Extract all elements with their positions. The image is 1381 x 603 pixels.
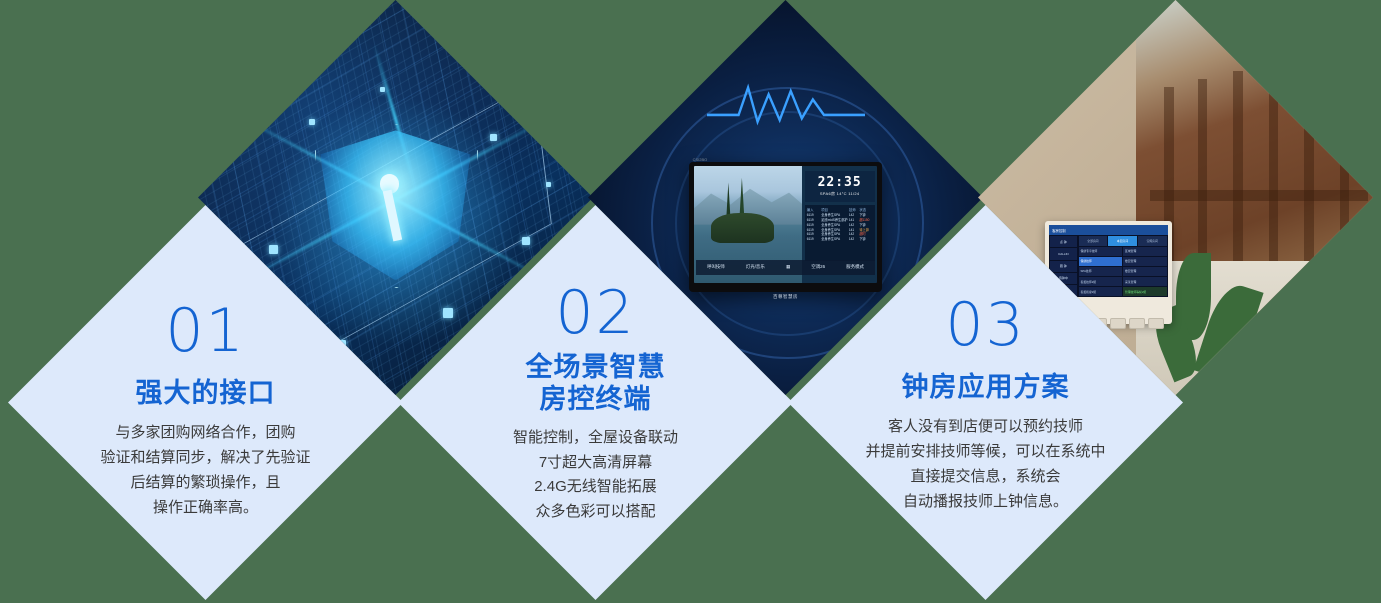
card-desc-line: 众多色彩可以搭配 [513,500,678,525]
card-title-line: 房控终端 [526,383,666,415]
panel-room-grid[interactable]: 保健专享技师 保健技师 SPA技师 香薰技师2组 香薰按摩2组 区域管理 楼层管… [1079,247,1167,296]
panel-cell[interactable]: 香薰技师2组 [1079,277,1123,286]
card-title-line: 全场景智慧 [526,351,666,383]
panel-cell[interactable]: 采某管理 [1123,277,1167,286]
card-desc-line: 7寸超大高清屏幕 [513,451,678,476]
wallpaper-island [711,213,774,244]
card-desc-line: 自动播报技师上钟信息。 [865,490,1105,515]
panel-button[interactable] [1129,318,1145,329]
table-cell: 全身养生SPA [821,237,849,242]
clock-meta: SPA6房 14°C 11/24 [820,191,860,197]
card-desc-line: 客人没有到店便可以预约技师 [865,415,1105,440]
screen-button-call-tech[interactable]: 呼叫技师 [707,264,725,270]
screen-button-aircon[interactable]: 空调26 [811,264,825,270]
card-title-02: 全场景智慧 房控终端 [526,351,666,416]
panel-screen[interactable]: 客房控制 点 钟 CALLIN 圈 钟 待钟中 直 钟 全部房间 本层房间 [1049,225,1167,297]
panel-cell[interactable]: 区域管理 [1123,247,1167,256]
table-header-cell: 项目 [821,207,849,212]
apps-grid-icon[interactable]: ▦ [786,264,790,270]
tablet-screen[interactable]: 22:35 SPA6房 14°C 11/24 编入 项目 技师 状态 6119 … [694,166,878,283]
screen-button-light-music[interactable]: 灯光/音乐 [746,264,765,270]
tablet-device: CSI2BO 22:35 SPA6房 14°C 11/24 编入 项目 [689,162,883,292]
panel-cell[interactable]: 香薰按摩2组 [1079,287,1123,296]
card-title-01: 强大的接口 [136,377,276,409]
screen-service-table: 编入 项目 技师 状态 6119 全身养生SPA 142 下钟 6119 足底m… [805,205,875,261]
side-menu-item[interactable]: 点 钟 [1050,236,1076,247]
table-row: 6119 全身养生SPA 142 下钟 [807,237,873,242]
card-title-03: 钟房应用方案 [902,371,1070,403]
screen-button-service-mode[interactable]: 服务模式 [846,264,864,270]
side-menu-item[interactable]: 圈 钟 [1050,261,1076,272]
card-desc-01: 与多家团购网络合作，团购 验证和结算同步，解决了先验证 后结算的繁琐操作，且 操… [100,421,310,520]
side-menu-item[interactable]: CALLIN [1050,248,1076,259]
card-desc-line: 验证和结算同步，解决了先验证 [100,446,310,471]
card-desc-line: 智能控制，全屋设备联动 [513,426,678,451]
tablet-logo: 百尊智慧房 [689,292,883,302]
panel-button[interactable] [1110,318,1126,329]
card-desc-line: 后结算的繁琐操作，且 [100,471,310,496]
infographic-stage: 01 强大的接口 与多家团购网络合作，团购 验证和结算同步，解决了先验证 后结算… [0,0,1381,603]
card-desc-line: 并提前安排技师等候，可以在系统中 [865,440,1105,465]
card-desc-line: 直接提交信息，系统会 [865,465,1105,490]
panel-tabs[interactable]: 全部房间 本层房间 空闲房间 [1079,236,1167,246]
card-desc-line: 操作正确率高。 [100,496,310,521]
panel-cell[interactable]: SPA技师 [1079,267,1123,276]
table-cell: 142 [849,237,860,242]
table-header-cell: 状态 [859,207,872,212]
panel-cell-alert[interactable]: 管理技师等候2组 [1123,287,1167,296]
panel-cell[interactable]: 保健专享技师 [1079,247,1123,256]
table-header-cell: 编入 [807,207,821,212]
panel-tab-all[interactable]: 全部房间 [1079,236,1108,246]
card-desc-03: 客人没有到店便可以预约技师 并提前安排技师等候，可以在系统中 直接提交信息，系统… [865,415,1105,514]
screen-action-bar[interactable]: 呼叫技师 灯光/音乐 ▦ 空调26 服务模式 [696,260,874,275]
panel-tab-free[interactable]: 空闲房间 [1138,236,1167,246]
pulse-wave-icon [707,79,865,130]
panel-title: 客房控制 [1049,225,1167,235]
panel-cell-selected[interactable]: 保健技师 [1079,257,1123,266]
screen-clock-widget: 22:35 SPA6房 14°C 11/24 [805,171,875,203]
card-number-03: 03 [945,295,1025,355]
card-desc-line: 与多家团购网络合作，团购 [100,421,310,446]
panel-button[interactable] [1148,318,1164,329]
clock-time: 22:35 [818,176,862,189]
table-cell: 下钟 [859,237,872,242]
tablet-brand-label: CSI2BO [693,157,708,162]
card-desc-line: 2.4G无线智能拓展 [513,475,678,500]
card-number-01: 01 [165,301,245,361]
table-cell: 6119 [807,237,821,242]
card-number-02: 02 [555,283,635,343]
table-header-cell: 技师 [849,207,860,212]
card-desc-02: 智能控制，全屋设备联动 7寸超大高清屏幕 2.4G无线智能拓展 众多色彩可以搭配 [513,426,678,525]
panel-cell[interactable]: 楼层管理 [1123,257,1167,266]
panel-tab-floor[interactable]: 本层房间 [1108,236,1137,246]
panel-cell[interactable]: 楼层管理 [1123,267,1167,276]
